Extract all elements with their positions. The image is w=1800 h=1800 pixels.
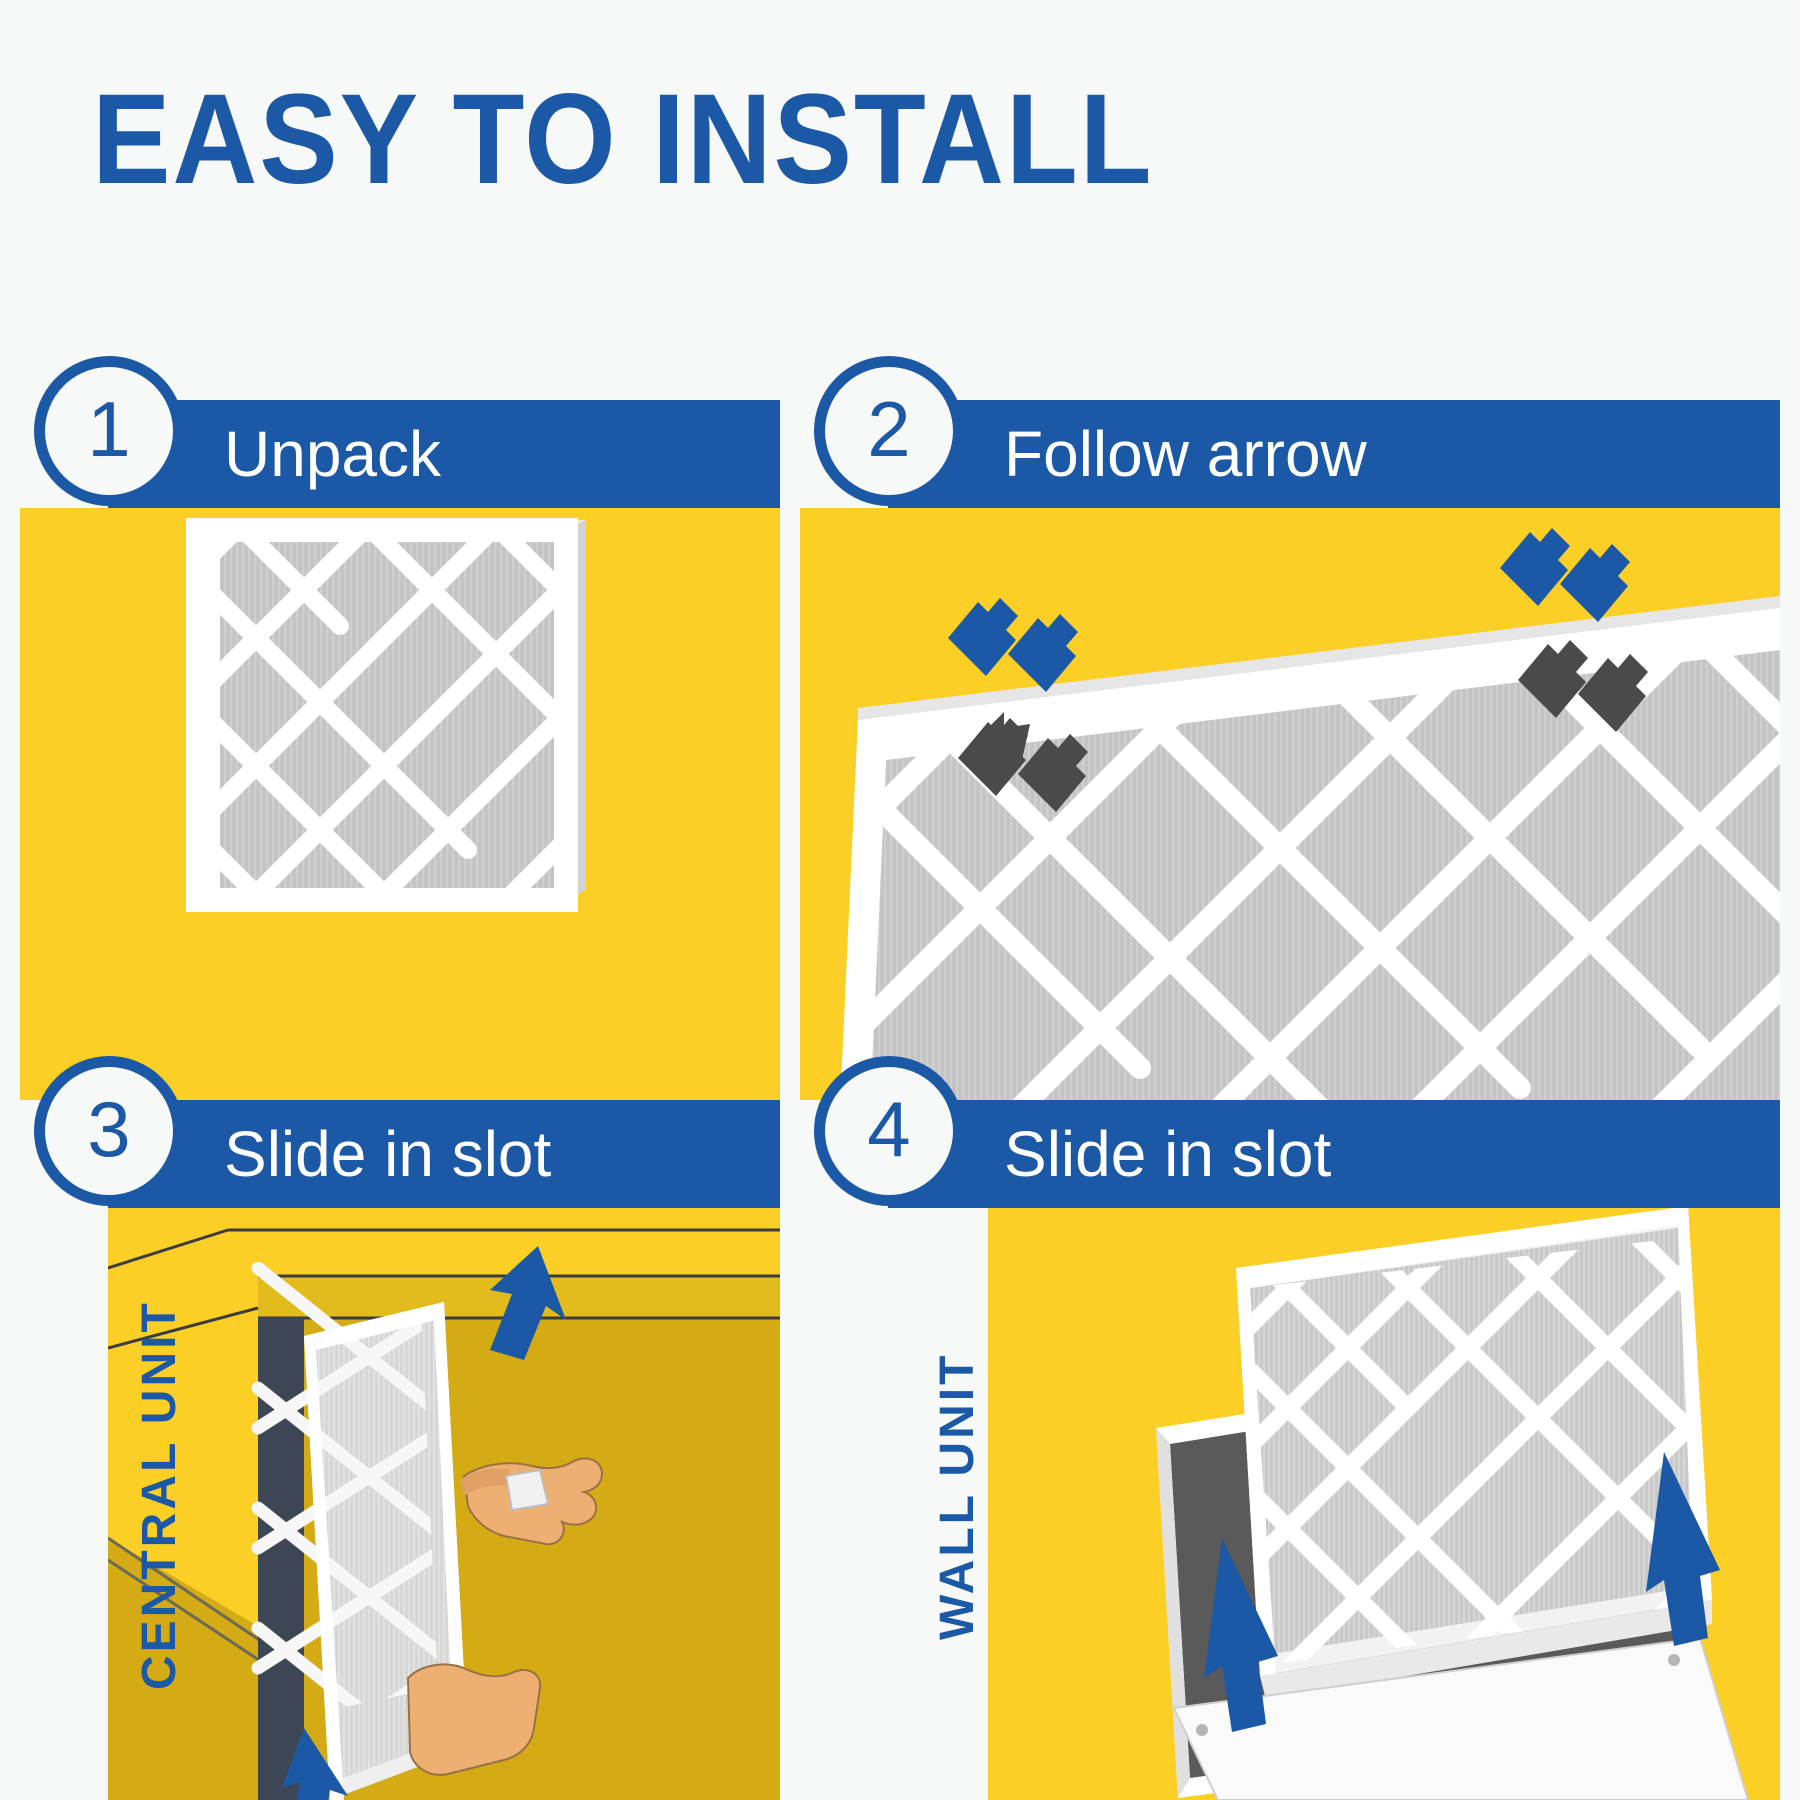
step-3-illustration: [108, 1208, 780, 1800]
step-panel-2: Follow arrow 2: [800, 400, 1780, 1100]
step-2-number-badge: 2: [814, 356, 964, 506]
tilted-air-filter-icon: [800, 508, 1780, 1100]
wall-unit-side-label: WALL UNIT: [930, 1353, 985, 1640]
step-1-number-badge: 1: [34, 356, 184, 506]
step-panel-1: Unpack 1: [20, 400, 780, 1100]
step-4-label: Slide in slot: [1004, 1122, 1331, 1186]
page-title: EASY TO INSTALL: [92, 76, 1153, 204]
step-1-label: Unpack: [224, 422, 441, 486]
step-1-illustration: [20, 508, 780, 1100]
step-1-number: 1: [87, 390, 130, 472]
step-4-number-badge: 4: [814, 1056, 964, 1206]
step-2-number: 2: [867, 390, 910, 472]
step-3-number: 3: [87, 1090, 130, 1172]
central-unit-side-label: CENTRAL UNIT: [132, 1300, 187, 1690]
central-unit-icon: [108, 1208, 780, 1800]
wall-unit-icon: [988, 1208, 1780, 1800]
step-4-illustration: [988, 1208, 1780, 1800]
step-2-header: Follow arrow: [888, 400, 1780, 508]
step-1-header: Unpack: [108, 400, 780, 508]
flat-air-filter-icon: [20, 508, 780, 1100]
step-4-number: 4: [867, 1090, 910, 1172]
step-3-label: Slide in slot: [224, 1122, 551, 1186]
step-2-label: Follow arrow: [1004, 422, 1367, 486]
step-2-illustration: [800, 508, 1780, 1100]
step-4-header: Slide in slot: [888, 1100, 1780, 1208]
step-3-header: Slide in slot: [108, 1100, 780, 1208]
step-3-number-badge: 3: [34, 1056, 184, 1206]
